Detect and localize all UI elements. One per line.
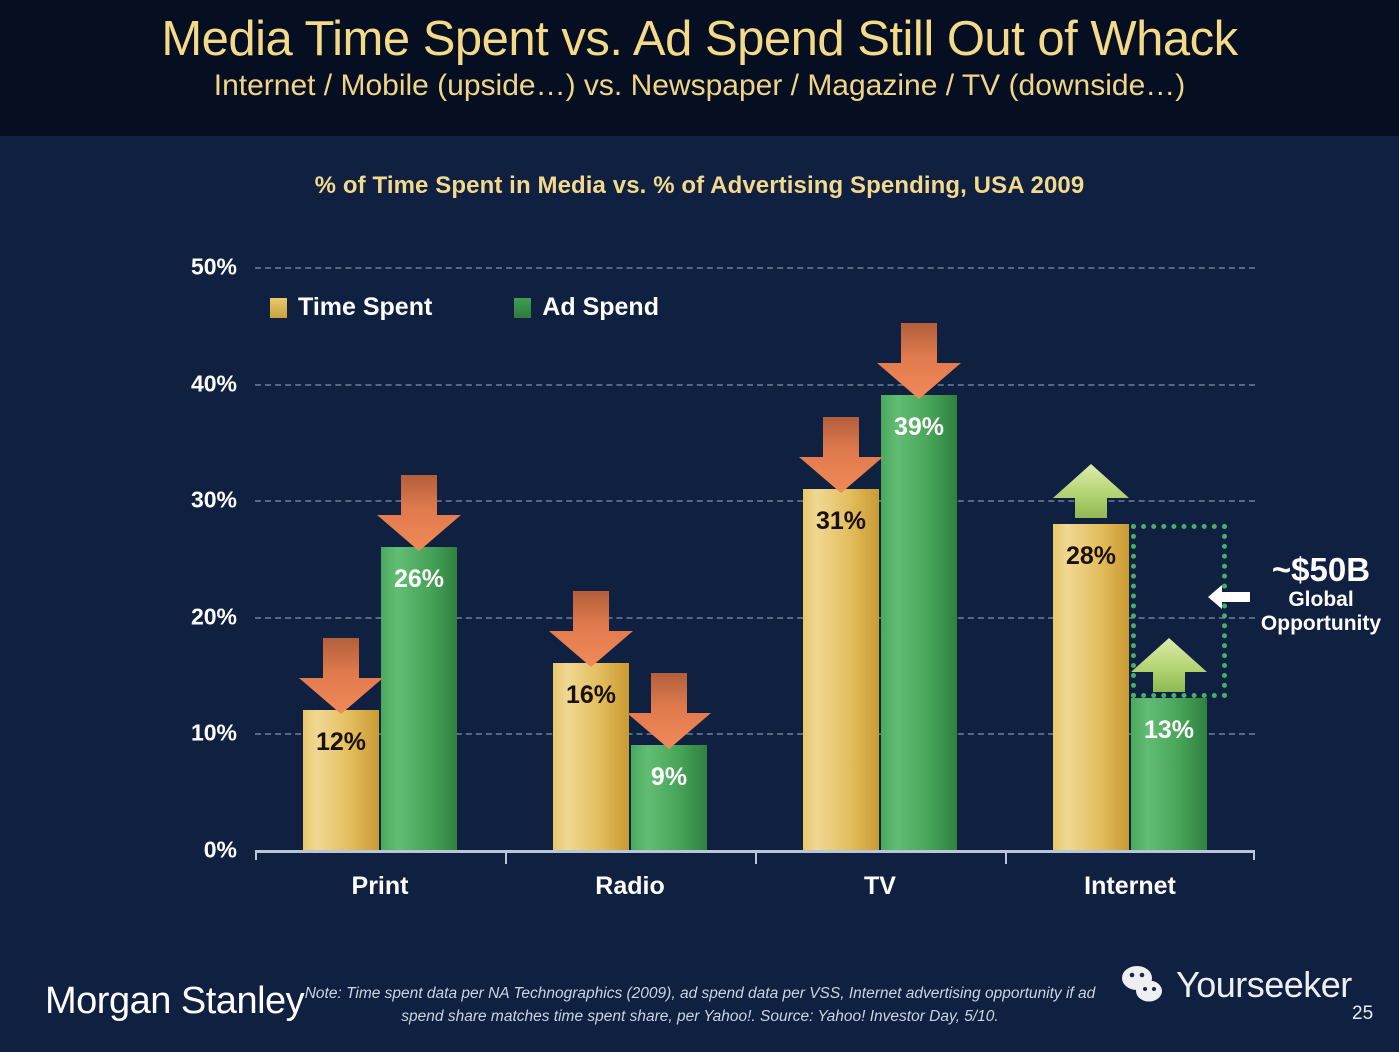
gridline bbox=[255, 267, 1255, 269]
x-axis-label-internet: Internet bbox=[1005, 872, 1255, 901]
bar-value-label: 28% bbox=[1053, 544, 1129, 569]
y-axis-tick-label: 40% bbox=[157, 370, 237, 397]
bar-value-label: 16% bbox=[553, 683, 629, 708]
x-axis-endcap bbox=[1253, 850, 1255, 860]
legend-label-time-spent: Time Spent bbox=[298, 293, 432, 322]
page-number: 25 bbox=[1352, 1003, 1373, 1025]
bar-value-label: 39% bbox=[881, 415, 957, 440]
legend-label-ad-spend: Ad Spend bbox=[542, 293, 659, 322]
bar-value-label: 9% bbox=[631, 765, 707, 790]
legend-item-ad-spend[interactable]: Ad Spend bbox=[514, 293, 659, 322]
wechat-icon bbox=[1118, 963, 1170, 1007]
bar-radio-ad-spend[interactable]: 9% bbox=[631, 745, 707, 850]
chart-legend: Time Spent Ad Spend bbox=[270, 293, 659, 322]
up-arrow-icon bbox=[1051, 464, 1131, 520]
opportunity-line-2: Global bbox=[1243, 588, 1399, 613]
x-axis-label-radio: Radio bbox=[505, 872, 755, 901]
legend-item-time-spent[interactable]: Time Spent bbox=[270, 293, 432, 322]
footnote: Note: Time spent data per NA Technograph… bbox=[300, 982, 1100, 1029]
bar-print-ad-spend[interactable]: 26% bbox=[381, 547, 457, 850]
bar-value-label: 26% bbox=[381, 567, 457, 592]
y-axis-tick-label: 30% bbox=[157, 487, 237, 514]
down-arrow-icon bbox=[797, 417, 885, 495]
bar-internet-time-spent[interactable]: 28% bbox=[1053, 524, 1129, 850]
opportunity-annotation: ~$50B Global Opportunity bbox=[1243, 553, 1399, 637]
x-axis-label-tv: TV bbox=[755, 872, 1005, 901]
down-arrow-icon bbox=[875, 323, 963, 401]
page-title: Media Time Spent vs. Ad Spend Still Out … bbox=[0, 14, 1399, 65]
down-arrow-icon bbox=[297, 638, 385, 716]
watermark-text: Yourseeker bbox=[1176, 964, 1352, 1006]
bar-value-label: 31% bbox=[803, 509, 879, 534]
legend-swatch-time-spent bbox=[270, 298, 287, 318]
plot-area: 12%26%16%9%31%39%28%13% bbox=[255, 267, 1255, 850]
down-arrow-icon bbox=[547, 591, 635, 669]
bar-tv-time-spent[interactable]: 31% bbox=[803, 489, 879, 850]
x-axis-tick bbox=[505, 850, 507, 864]
x-axis-tick bbox=[1005, 850, 1007, 864]
y-axis-tick-label: 10% bbox=[157, 720, 237, 747]
bar-value-label: 12% bbox=[303, 730, 379, 755]
y-axis-tick-label: 50% bbox=[157, 254, 237, 281]
x-axis-endcap bbox=[255, 850, 257, 860]
slide-header-band: Media Time Spent vs. Ad Spend Still Out … bbox=[0, 0, 1399, 136]
gridline bbox=[255, 384, 1255, 386]
bar-value-label: 13% bbox=[1131, 718, 1207, 743]
x-axis-tick bbox=[755, 850, 757, 864]
opportunity-amount: ~$50B bbox=[1243, 553, 1399, 588]
chart-title: % of Time Spent in Media vs. % of Advert… bbox=[0, 172, 1399, 200]
page-subtitle: Internet / Mobile (upside…) vs. Newspape… bbox=[0, 69, 1399, 102]
y-axis-tick-label: 0% bbox=[157, 837, 237, 864]
y-axis-tick-label: 20% bbox=[157, 603, 237, 630]
bar-radio-time-spent[interactable]: 16% bbox=[553, 663, 629, 850]
bar-print-time-spent[interactable]: 12% bbox=[303, 710, 379, 850]
legend-swatch-ad-spend bbox=[514, 298, 531, 318]
watermark: Yourseeker bbox=[1118, 963, 1352, 1007]
down-arrow-icon bbox=[375, 475, 463, 553]
x-axis-label-print: Print bbox=[255, 872, 505, 901]
bar-tv-ad-spend[interactable]: 39% bbox=[881, 395, 957, 850]
morgan-stanley-logo: Morgan Stanley bbox=[45, 980, 304, 1023]
bar-internet-ad-spend[interactable]: 13% bbox=[1131, 698, 1207, 850]
down-arrow-icon bbox=[625, 673, 713, 751]
opportunity-line-3: Opportunity bbox=[1243, 612, 1399, 637]
